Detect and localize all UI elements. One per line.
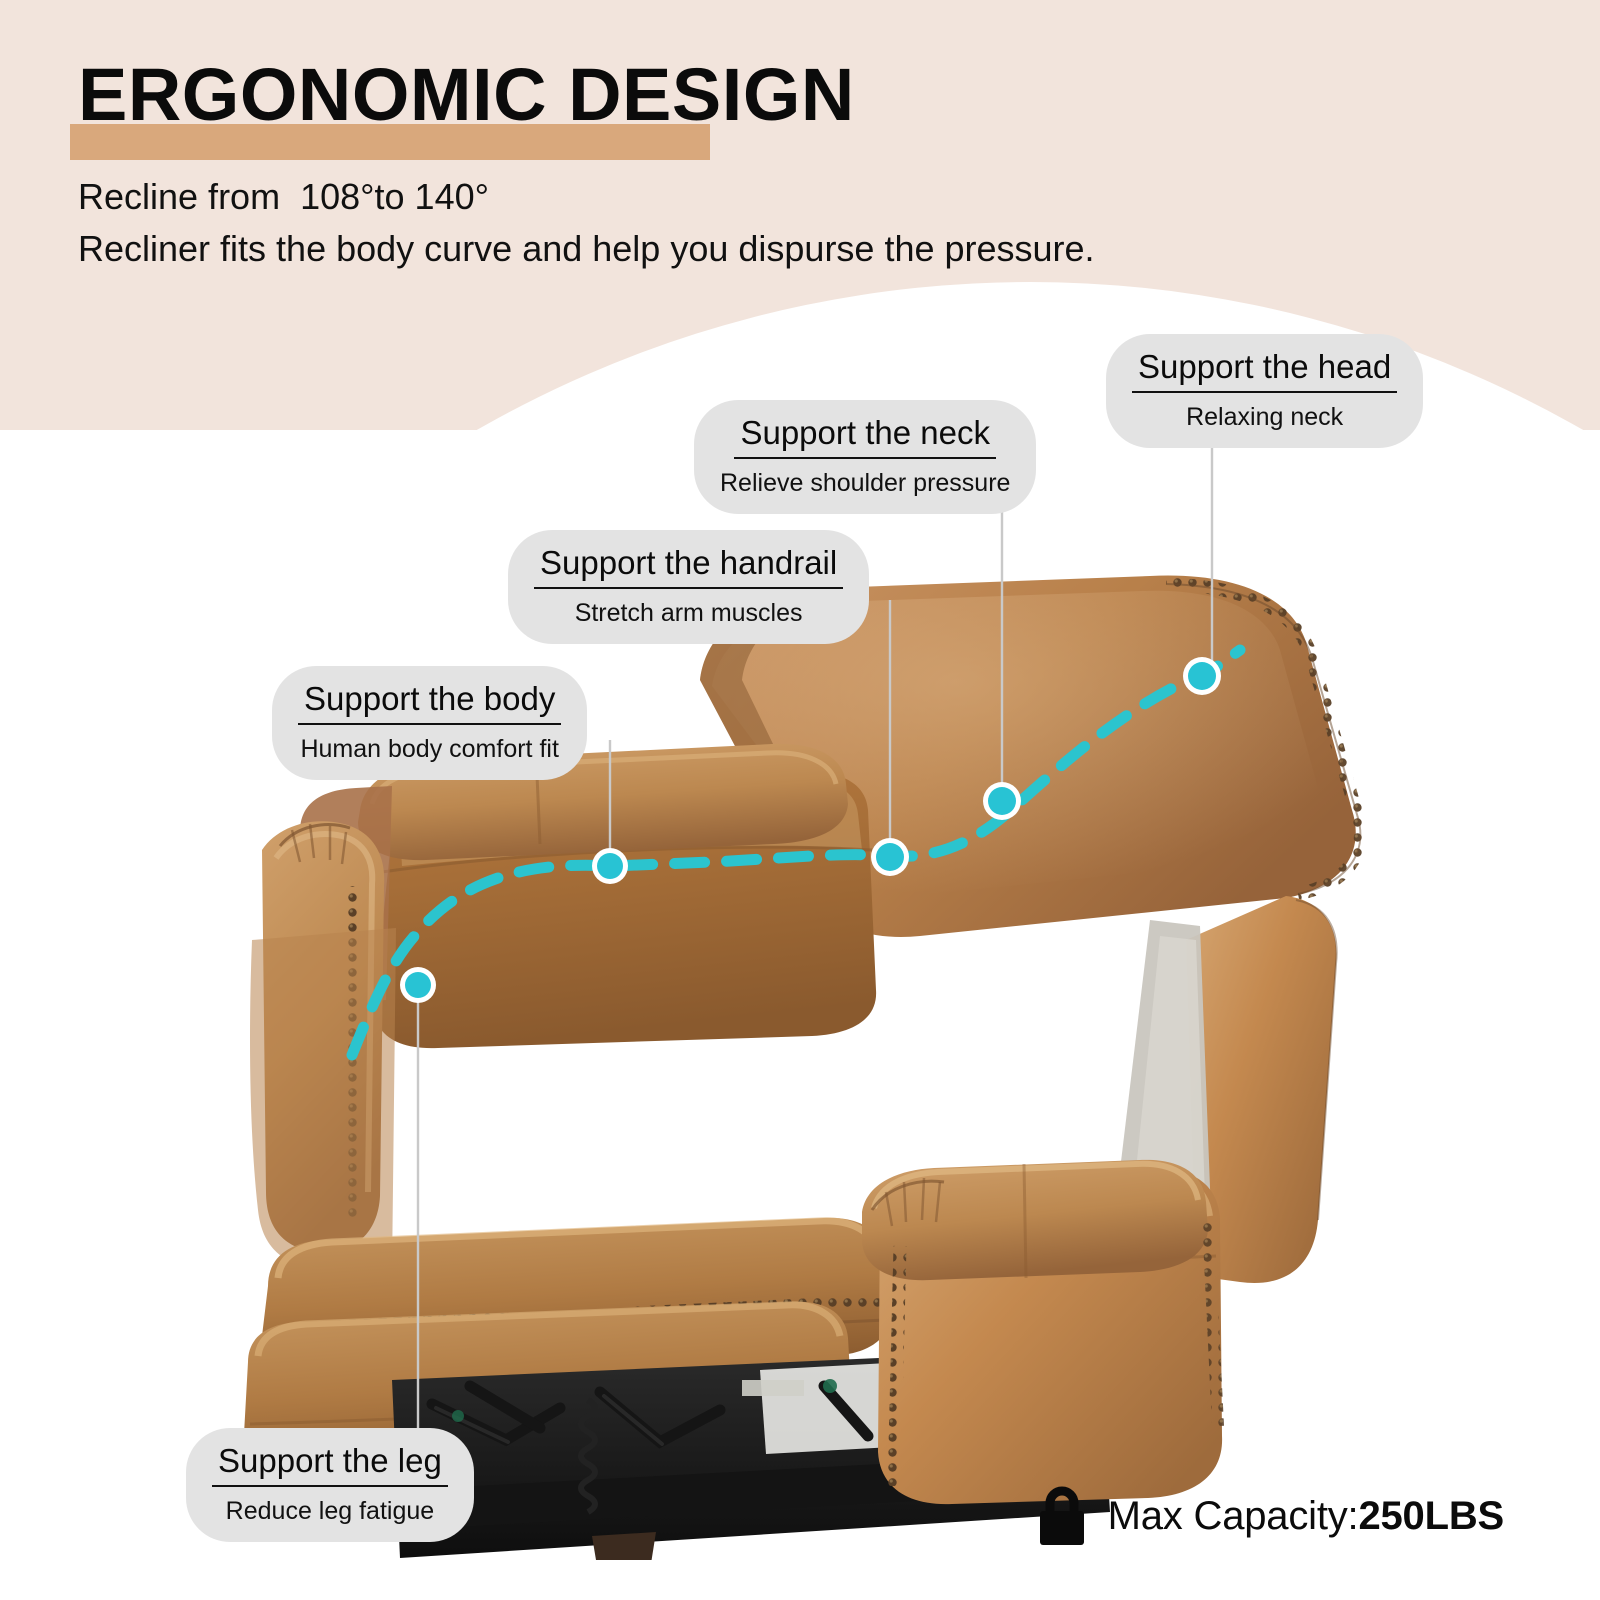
lock-icon	[1034, 1484, 1090, 1548]
callout-body-subtitle: Human body comfort fit	[298, 734, 561, 764]
infographic-canvas: ERGONOMIC DESIGN Recline from 108°to 140…	[0, 0, 1600, 1600]
callout-head-subtitle: Relaxing neck	[1132, 402, 1397, 432]
callout-leg-subtitle: Reduce leg fatigue	[212, 1496, 448, 1526]
callout-head-title: Support the head	[1132, 348, 1397, 393]
title-block: ERGONOMIC DESIGN	[78, 58, 855, 132]
callout-leg[interactable]: Support the leg Reduce leg fatigue	[186, 1428, 474, 1542]
max-capacity-badge: Max Capacity:250LBS	[1034, 1484, 1504, 1548]
page-title: ERGONOMIC DESIGN	[78, 58, 855, 132]
max-capacity-value: 250LBS	[1358, 1494, 1504, 1538]
callout-leg-title: Support the leg	[212, 1442, 448, 1487]
callout-handrail-subtitle: Stretch arm muscles	[534, 598, 843, 628]
max-capacity-label: Max Capacity:	[1108, 1494, 1359, 1538]
callout-body-title: Support the body	[298, 680, 561, 725]
max-capacity-text: Max Capacity:250LBS	[1108, 1494, 1504, 1539]
callout-body[interactable]: Support the body Human body comfort fit	[272, 666, 587, 780]
callout-handrail-title: Support the handrail	[534, 544, 843, 589]
callout-head[interactable]: Support the head Relaxing neck	[1106, 334, 1423, 448]
callout-neck-title: Support the neck	[734, 414, 996, 459]
callout-handrail[interactable]: Support the handrail Stretch arm muscles	[508, 530, 869, 644]
callout-neck[interactable]: Support the neck Relieve shoulder pressu…	[694, 400, 1036, 514]
recline-range-text: Recline from 108°to 140°	[78, 176, 489, 218]
description-text: Recliner fits the body curve and help yo…	[78, 228, 1095, 270]
callout-neck-subtitle: Relieve shoulder pressure	[720, 468, 1010, 498]
